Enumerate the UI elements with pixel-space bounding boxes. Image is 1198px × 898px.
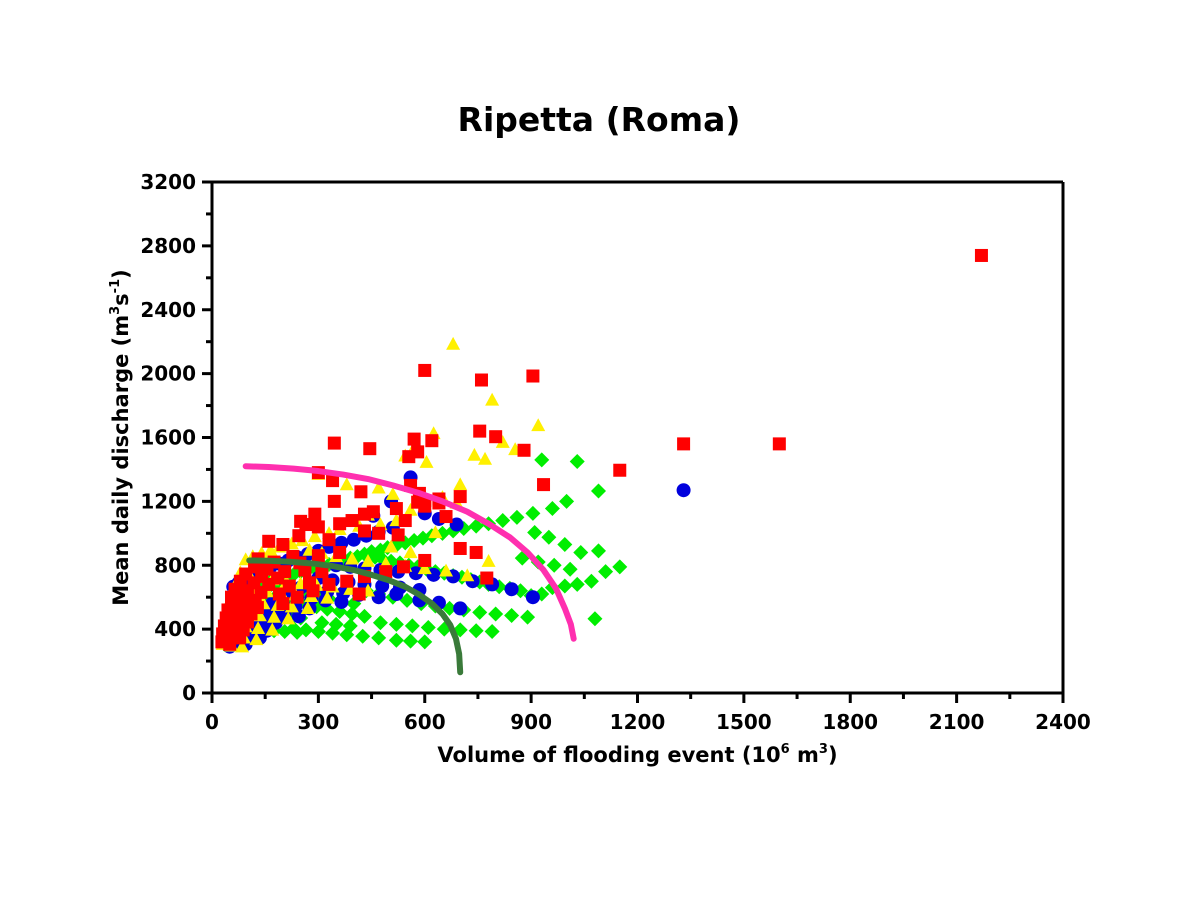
data-point-red-squares	[390, 502, 403, 515]
data-point-green-diamonds	[559, 494, 574, 509]
data-point-red-squares	[262, 535, 275, 548]
data-point-yellow-triangles	[340, 477, 354, 490]
data-point-yellow-triangles	[467, 448, 481, 461]
data-point-blue-circles	[453, 601, 467, 615]
data-point-green-diamonds	[371, 630, 386, 645]
data-point-red-squares	[291, 591, 304, 604]
x-tick-label: 2100	[929, 710, 985, 734]
data-point-green-diamonds	[495, 513, 510, 528]
y-axis-title: Mean daily discharge (m3s-1)	[108, 269, 133, 606]
x-tick-label: 300	[298, 710, 340, 734]
data-point-red-squares	[372, 527, 385, 540]
data-point-red-squares	[354, 485, 367, 498]
data-point-red-squares	[425, 434, 438, 447]
data-point-red-squares	[454, 542, 467, 555]
data-point-red-squares	[223, 638, 236, 651]
data-point-green-diamonds	[527, 525, 542, 540]
y-tick-label: 2000	[140, 362, 196, 386]
data-point-red-squares	[333, 517, 346, 530]
data-point-red-squares	[537, 478, 550, 491]
x-tick-label: 900	[510, 710, 552, 734]
data-point-red-squares	[303, 576, 316, 589]
data-point-yellow-triangles	[531, 418, 545, 431]
data-point-yellow-triangles	[446, 337, 460, 350]
data-point-green-diamonds	[598, 564, 613, 579]
data-point-green-diamonds	[587, 611, 602, 626]
data-point-red-squares	[312, 549, 325, 562]
data-point-green-diamonds	[520, 610, 535, 625]
y-tick-label: 400	[154, 617, 196, 641]
data-point-green-diamonds	[403, 634, 418, 649]
y-tick-label: 2400	[140, 298, 196, 322]
data-point-green-diamonds	[570, 454, 585, 469]
data-point-green-diamonds	[469, 623, 484, 638]
data-point-red-squares	[358, 524, 371, 537]
y-tick-label: 1200	[140, 489, 196, 513]
data-point-red-squares	[353, 587, 366, 600]
data-point-red-squares	[470, 546, 483, 559]
data-point-red-squares	[308, 508, 321, 521]
data-point-blue-circles	[505, 582, 519, 596]
y-tick-label: 800	[154, 553, 196, 577]
data-point-green-diamonds	[421, 620, 436, 635]
data-point-red-squares	[440, 510, 453, 523]
data-point-red-squares	[323, 578, 336, 591]
y-tick-label: 1600	[140, 426, 196, 450]
data-point-red-squares	[312, 520, 325, 533]
data-point-red-squares	[418, 500, 431, 513]
data-point-green-diamonds	[405, 618, 420, 633]
data-point-red-squares	[323, 533, 336, 546]
data-point-red-squares	[399, 514, 412, 527]
data-point-green-diamonds	[357, 609, 372, 624]
data-point-red-squares	[363, 442, 376, 455]
data-point-red-squares	[480, 572, 493, 585]
y-tick-label: 2800	[140, 234, 196, 258]
data-point-green-diamonds	[345, 606, 360, 621]
data-point-green-diamonds	[547, 558, 562, 573]
data-point-red-squares	[358, 508, 371, 521]
x-tick-label: 0	[205, 710, 219, 734]
data-point-red-squares	[276, 538, 289, 551]
data-point-green-diamonds	[573, 545, 588, 560]
data-point-blue-circles	[389, 587, 403, 601]
data-point-red-squares	[418, 554, 431, 567]
y-tick-label: 0	[182, 681, 196, 705]
data-point-green-diamonds	[472, 605, 487, 620]
data-point-green-diamonds	[584, 574, 599, 589]
data-point-red-squares	[773, 437, 786, 450]
x-tick-label: 2400	[1035, 710, 1091, 734]
x-tick-label: 1800	[822, 710, 878, 734]
chart-figure: Ripetta (Roma) 0300600900120015001800210…	[0, 0, 1198, 898]
data-point-red-squares	[346, 514, 359, 527]
data-point-blue-circles	[677, 483, 691, 497]
data-point-red-squares	[418, 364, 431, 377]
data-point-green-diamonds	[557, 537, 572, 552]
data-point-red-squares	[526, 370, 539, 383]
data-point-green-diamonds	[545, 501, 560, 516]
scatter-plot: 0300600900120015001800210024000400800120…	[0, 0, 1198, 898]
data-point-green-diamonds	[355, 629, 370, 644]
data-point-red-squares	[328, 437, 341, 450]
data-point-green-diamonds	[541, 530, 556, 545]
data-point-red-squares	[402, 450, 415, 463]
data-point-green-diamonds	[612, 559, 627, 574]
data-point-red-squares	[518, 444, 531, 457]
x-tick-label: 1500	[716, 710, 772, 734]
x-tick-label: 1200	[610, 710, 666, 734]
data-point-red-squares	[397, 560, 410, 573]
data-point-green-diamonds	[485, 624, 500, 639]
data-point-blue-circles	[334, 595, 348, 609]
x-axis-title: Volume of flooding event (106 m3)	[437, 742, 837, 767]
data-point-red-squares	[613, 464, 626, 477]
data-point-red-squares	[475, 374, 488, 387]
data-point-red-squares	[333, 546, 346, 559]
data-point-green-diamonds	[509, 510, 524, 525]
data-point-yellow-triangles	[482, 554, 496, 567]
data-point-green-diamonds	[570, 577, 585, 592]
data-point-green-diamonds	[591, 483, 606, 498]
data-point-yellow-triangles	[485, 393, 499, 406]
data-point-green-diamonds	[525, 506, 540, 521]
data-point-red-squares	[473, 425, 486, 438]
data-point-green-diamonds	[417, 634, 432, 649]
data-point-yellow-triangles	[478, 452, 492, 465]
data-point-blue-circles	[372, 590, 386, 604]
data-point-red-squares	[328, 495, 341, 508]
x-tick-label: 600	[404, 710, 446, 734]
data-point-red-squares	[392, 528, 405, 541]
data-point-red-squares	[677, 437, 690, 450]
data-point-green-diamonds	[488, 606, 503, 621]
data-point-red-squares	[975, 249, 988, 262]
data-point-blue-circles	[526, 590, 540, 604]
data-point-green-diamonds	[389, 617, 404, 632]
data-point-red-squares	[408, 433, 421, 446]
data-point-red-squares	[276, 597, 289, 610]
data-point-red-squares	[454, 490, 467, 503]
data-point-green-diamonds	[389, 633, 404, 648]
data-point-red-squares	[340, 575, 353, 588]
data-point-green-diamonds	[504, 608, 519, 623]
data-point-green-diamonds	[563, 562, 578, 577]
y-tick-label: 3200	[140, 170, 196, 194]
data-point-green-diamonds	[373, 615, 388, 630]
data-point-green-diamonds	[591, 543, 606, 558]
data-point-green-diamonds	[534, 452, 549, 467]
data-point-red-squares	[489, 430, 502, 443]
data-point-red-squares	[292, 529, 305, 542]
plot-data-layer	[215, 249, 988, 672]
data-point-yellow-triangles	[453, 477, 467, 490]
